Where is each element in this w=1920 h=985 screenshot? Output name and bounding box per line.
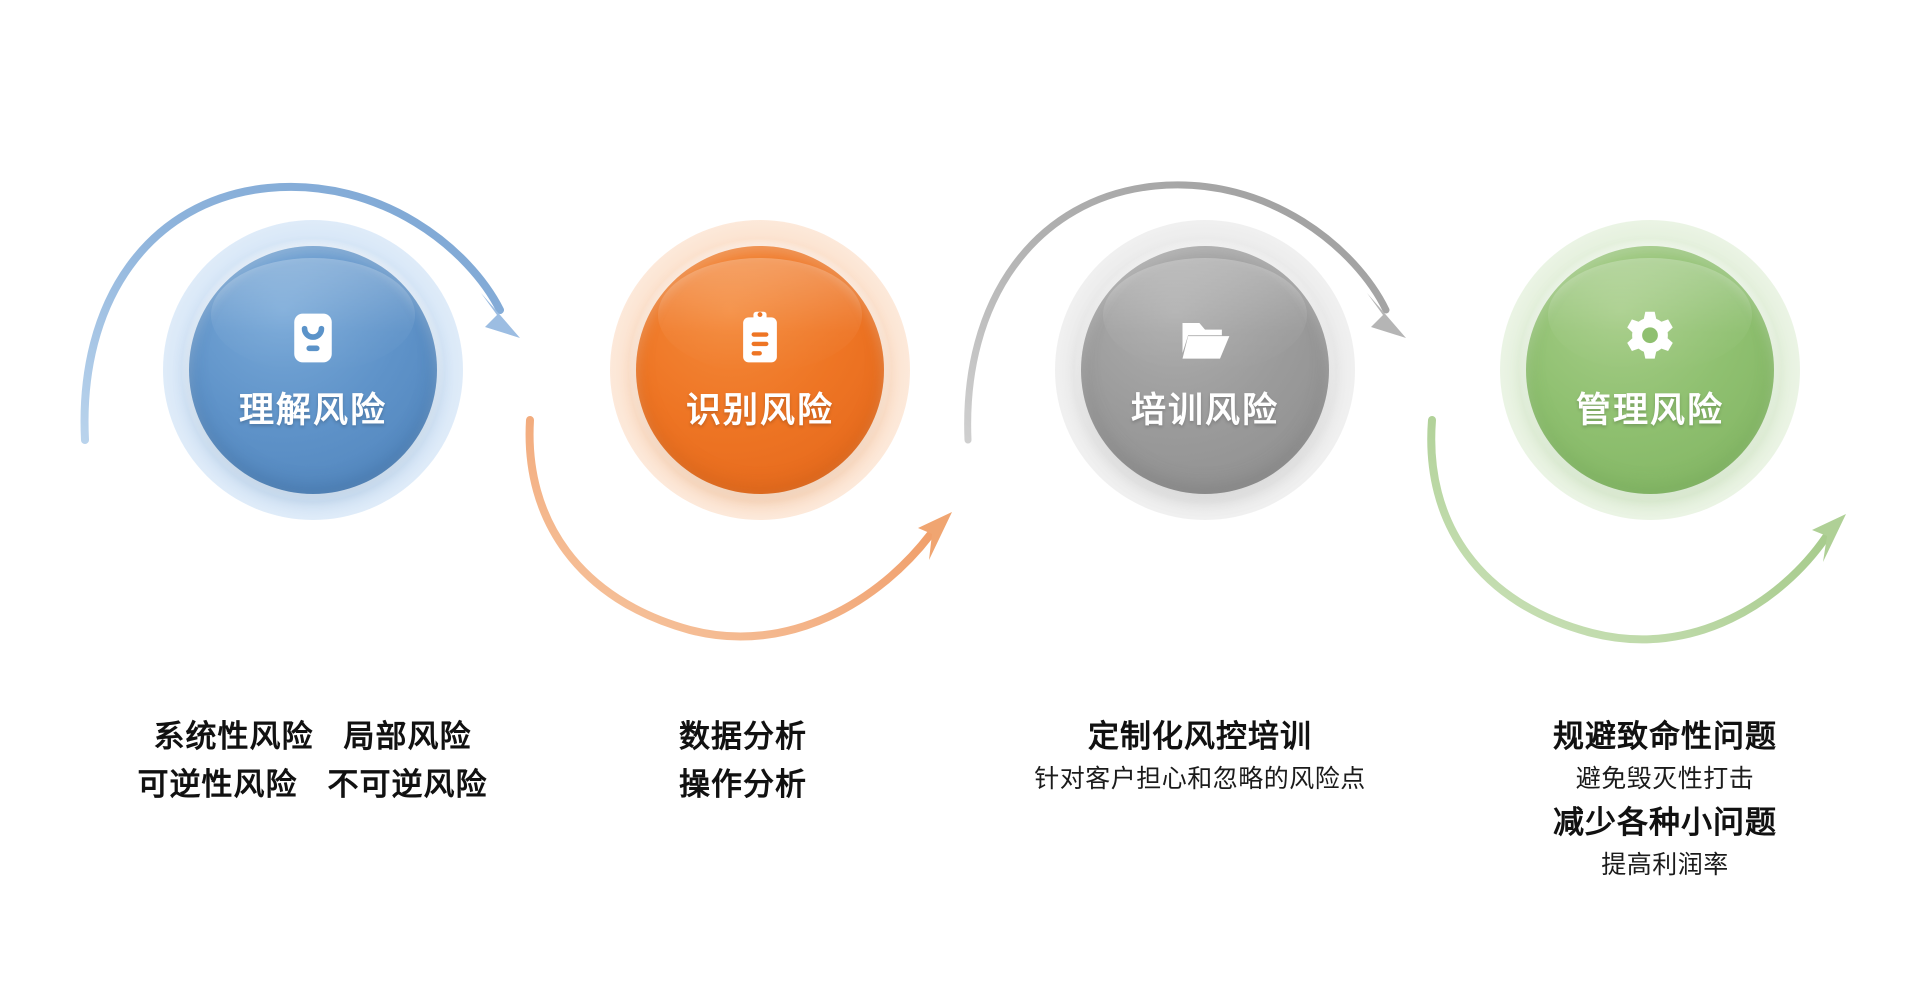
caption-row: 避免毁灭性打击 — [1455, 761, 1875, 799]
caption-text: 系统性风险 — [154, 713, 314, 761]
caption-row: 定制化风控培训 — [945, 713, 1455, 761]
node-label: 培训风险 — [1131, 382, 1279, 433]
card-smile-icon — [283, 308, 343, 368]
caption-row: 针对客户担心和忽略的风险点 — [945, 761, 1455, 799]
caption-row: 规避致命性问题 — [1455, 713, 1875, 761]
node-disc[interactable]: 理解风险 — [189, 246, 437, 494]
node-label: 识别风险 — [686, 382, 834, 433]
caption-text: 不可逆风险 — [328, 761, 488, 809]
clipboard-icon — [730, 308, 790, 368]
caption-identify-risk: 数据分析 操作分析 — [578, 713, 908, 809]
caption-row: 减少各种小问题 — [1455, 799, 1875, 847]
node-disc[interactable]: 培训风险 — [1081, 246, 1329, 494]
node-label: 管理风险 — [1576, 382, 1724, 433]
node-understand-risk[interactable]: 理解风险 — [163, 220, 463, 520]
node-manage-risk[interactable]: 管理风险 — [1500, 220, 1800, 520]
caption-row: 系统性风险 局部风险 — [40, 713, 585, 761]
caption-manage-risk: 规避致命性问题 避免毁灭性打击 减少各种小问题 提高利润率 — [1455, 713, 1875, 884]
caption-row: 提高利润率 — [1455, 847, 1875, 885]
caption-understand-risk: 系统性风险 局部风险 可逆性风险 不可逆风险 — [40, 713, 585, 809]
caption-row: 数据分析 — [578, 713, 908, 761]
diagram-canvas: 理解风险 识别风险 培训风险 — [0, 0, 1920, 985]
node-training-risk[interactable]: 培训风险 — [1055, 220, 1355, 520]
node-identify-risk[interactable]: 识别风险 — [610, 220, 910, 520]
node-disc[interactable]: 管理风险 — [1526, 246, 1774, 494]
folder-open-icon — [1175, 308, 1235, 368]
node-label: 理解风险 — [239, 382, 387, 433]
caption-text: 可逆性风险 — [138, 761, 298, 809]
gear-icon — [1620, 308, 1680, 368]
caption-training-risk: 定制化风控培训 针对客户担心和忽略的风险点 — [945, 713, 1455, 799]
node-disc[interactable]: 识别风险 — [636, 246, 884, 494]
caption-row: 可逆性风险 不可逆风险 — [40, 761, 585, 809]
caption-text: 局部风险 — [344, 713, 472, 761]
caption-row: 操作分析 — [578, 761, 908, 809]
